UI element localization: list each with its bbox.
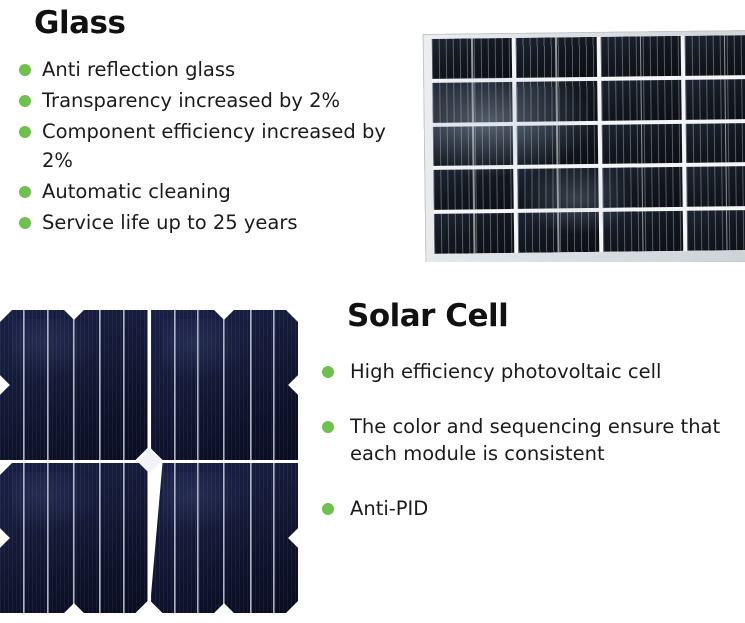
list-item: Service life up to 25 years <box>18 208 418 237</box>
product-feature-page: Glass Anti reflection glass Transparency… <box>0 0 745 623</box>
list-item: Anti-PID <box>320 495 740 522</box>
mono-solar-cell <box>151 310 299 460</box>
solar-panel-module-image <box>418 28 745 262</box>
panel-laminate-area <box>432 35 745 254</box>
solar-cell-section-heading: Solar Cell <box>347 301 508 332</box>
bullet-dot-icon <box>19 217 31 229</box>
bullet-dot-icon <box>19 95 31 107</box>
cell-busbars <box>151 310 299 460</box>
cell-glare-highlight <box>162 472 251 532</box>
panel-cell <box>516 81 597 122</box>
panel-cell <box>602 167 683 208</box>
list-item: Component efficiency increased by 2% <box>18 117 418 175</box>
cell-busbars <box>151 463 299 613</box>
panel-cell-grid <box>432 35 745 254</box>
list-item: Automatic cleaning <box>18 177 418 206</box>
list-item: Anti reflection glass <box>18 55 418 84</box>
panel-cell <box>685 122 745 163</box>
list-item-label: High efficiency photovoltaic cell <box>350 358 740 385</box>
bullet-dot-icon <box>322 503 334 515</box>
panel-cell <box>517 124 598 165</box>
panel-cell <box>686 166 745 207</box>
panel-cell <box>601 80 682 121</box>
cell-glare-highlight <box>12 319 101 379</box>
list-item: High efficiency photovoltaic cell <box>320 358 740 385</box>
list-item: Transparency increased by 2% <box>18 86 418 115</box>
cell-glare-highlight <box>12 472 101 532</box>
glass-feature-list: Anti reflection glass Transparency incre… <box>18 55 418 239</box>
panel-cell <box>518 212 599 253</box>
list-item-label: Component efficiency increased by 2% <box>42 117 418 175</box>
panel-cell <box>518 168 599 209</box>
list-item-label: Transparency increased by 2% <box>42 86 418 115</box>
bullet-dot-icon <box>322 421 334 433</box>
panel-cell <box>516 37 597 78</box>
list-item-label: Anti reflection glass <box>42 55 418 84</box>
panel-cell <box>687 210 745 251</box>
bullet-dot-icon <box>19 64 31 76</box>
bullet-dot-icon <box>19 126 31 138</box>
list-item: The color and sequencing ensure that eac… <box>320 413 740 467</box>
glass-section-heading: Glass <box>34 8 125 39</box>
cell-corner-chamfer <box>214 310 234 320</box>
panel-cell <box>432 38 513 79</box>
mono-solar-cell <box>0 310 148 460</box>
cell-corner-chamfer <box>214 603 234 613</box>
panel-cell <box>433 169 514 210</box>
cell-busbars <box>0 463 148 613</box>
cell-corner-chamfer <box>64 310 84 320</box>
solar-cell-feature-list: High efficiency photovoltaic cell The co… <box>320 358 740 550</box>
list-item-label: Anti-PID <box>350 495 740 522</box>
panel-cell <box>600 36 681 77</box>
cell-corner-chamfer <box>288 375 298 395</box>
bullet-dot-icon <box>322 366 334 378</box>
list-item-label: The color and sequencing ensure that eac… <box>350 413 740 467</box>
panel-cell <box>685 79 745 120</box>
panel-aluminium-frame <box>423 30 745 262</box>
bullet-dot-icon <box>19 186 31 198</box>
panel-cell <box>432 82 513 123</box>
cell-corner-chamfer <box>64 603 84 613</box>
cell-corner-chamfer <box>0 528 10 548</box>
cell-busbars <box>0 310 148 460</box>
mono-solar-cell <box>151 463 299 613</box>
panel-cell <box>601 123 682 164</box>
cell-corner-chamfer <box>288 528 298 548</box>
list-item-label: Automatic cleaning <box>42 177 418 206</box>
list-item-label: Service life up to 25 years <box>42 208 418 237</box>
solar-cell-closeup-image <box>0 310 298 613</box>
cell-glare-highlight <box>162 319 251 379</box>
panel-cell <box>433 126 514 167</box>
mono-solar-cell <box>0 463 148 613</box>
panel-cell <box>434 213 515 254</box>
cell-corner-chamfer <box>0 375 10 395</box>
panel-cell <box>684 35 745 76</box>
panel-cell <box>602 211 683 252</box>
mono-cell-grid <box>0 310 298 613</box>
